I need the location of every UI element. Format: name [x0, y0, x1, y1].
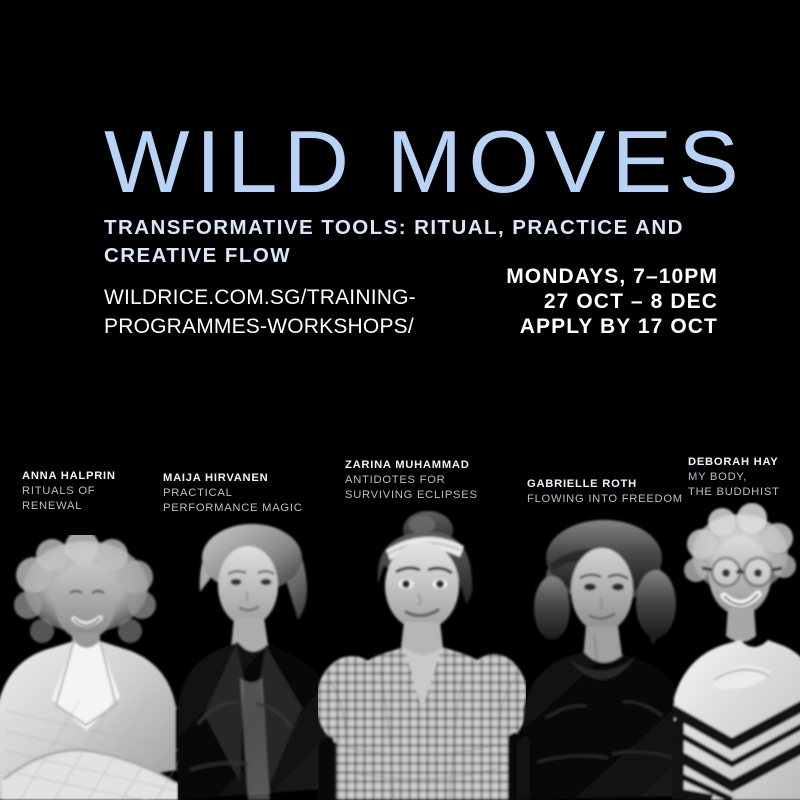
artist-name: DEBORAH HAY — [688, 455, 780, 470]
artist-name: ZARINA MUHAMMAD — [345, 458, 478, 473]
poster-canvas: WILD MOVES TRANSFORMATIVE TOOLS: RITUAL,… — [0, 0, 800, 800]
artist-name: ANNA HALPRIN — [22, 469, 116, 484]
artist-name: MAIJA HIRVANEN — [163, 471, 303, 486]
portrait-anna-halprin — [0, 535, 190, 800]
poster-subtitle: TRANSFORMATIVE TOOLS: RITUAL, PRACTICE A… — [104, 214, 729, 270]
artist-work-line: PRACTICAL — [163, 486, 303, 501]
artist-work-line: ANTIDOTES FOR — [345, 473, 478, 488]
portrait-zarina-muhammad — [318, 510, 526, 800]
schedule-time: MONDAYS, 7–10PM — [506, 264, 718, 289]
portrait-deborah-hay — [672, 502, 800, 800]
schedule-block: MONDAYS, 7–10PM 27 OCT – 8 DEC APPLY BY … — [506, 264, 718, 339]
page-title: WILD MOVES — [104, 118, 745, 206]
registration-url[interactable]: WILDRICE.COM.SG/TRAINING-PROGRAMMES-WORK… — [104, 283, 464, 341]
schedule-dates: 27 OCT – 8 DEC — [506, 289, 718, 314]
schedule-deadline: APPLY BY 17 OCT — [506, 314, 718, 339]
portrait-gabrielle-roth — [516, 512, 696, 800]
artist-work-line: THE BUDDHIST — [688, 485, 780, 500]
artist-credit-zarina-muhammad: ZARINA MUHAMMAD ANTIDOTES FOR SURVIVING … — [345, 458, 478, 503]
artist-credit-deborah-hay: DEBORAH HAY MY BODY, THE BUDDHIST — [688, 455, 780, 500]
portrait-strip — [0, 500, 800, 800]
artist-work-line: RITUALS OF — [22, 484, 116, 499]
artist-work-line: MY BODY, — [688, 470, 780, 485]
artist-name: GABRIELLE ROTH — [527, 477, 683, 492]
